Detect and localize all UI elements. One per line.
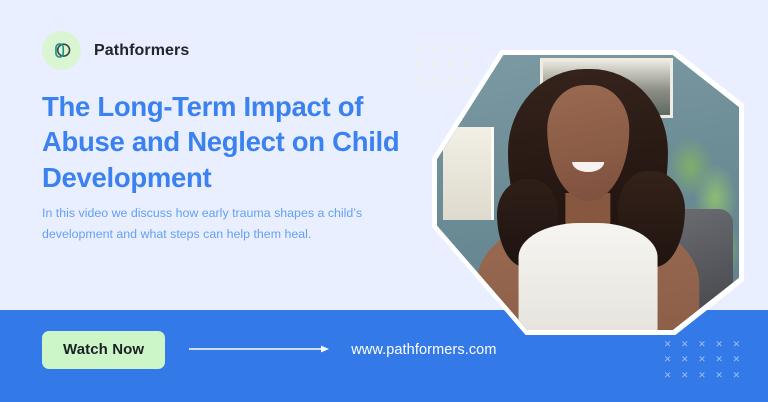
decorative-x-pattern-light: ✕ ✕ ✕ ✕ ✕ ✕ ✕ ✕ ✕ ✕ ✕ ✕ ✕ ✕ ✕ (659, 340, 745, 386)
x-mark-icon: ✕ (676, 355, 693, 370)
x-mark-icon: ✕ (676, 340, 693, 355)
promo-banner: ✕ ✕ ✕ ✕ ✕ ✕ ✕ ✕ ✕ ✕ ✕ ✕ Pathformers The … (0, 0, 768, 402)
x-mark-icon: ✕ (693, 340, 710, 355)
x-mark-icon: ✕ (693, 355, 710, 370)
x-mark-icon: ✕ (711, 340, 728, 355)
page-title: The Long-Term Impact of Abuse and Neglec… (42, 89, 442, 195)
watch-now-button[interactable]: Watch Now (42, 331, 165, 369)
x-mark-icon: ✕ (659, 355, 676, 370)
x-mark-icon: ✕ (413, 44, 429, 61)
website-url[interactable]: www.pathformers.com (351, 342, 496, 358)
x-mark-icon: ✕ (711, 355, 728, 370)
x-mark-icon: ✕ (728, 355, 745, 370)
cta-row: Watch Now www.pathformers.com (42, 331, 497, 369)
x-mark-icon: ✕ (693, 371, 710, 386)
x-mark-icon: ✕ (728, 371, 745, 386)
x-mark-icon: ✕ (659, 340, 676, 355)
brand-logo[interactable]: Pathformers (42, 31, 189, 70)
x-mark-icon: ✕ (711, 371, 728, 386)
description-text: In this video we discuss how early traum… (42, 203, 417, 246)
x-mark-icon: ✕ (728, 340, 745, 355)
avatar (437, 55, 739, 330)
portrait-container (437, 55, 739, 330)
x-mark-icon: ✕ (413, 61, 429, 78)
x-mark-icon: ✕ (659, 371, 676, 386)
brand-name: Pathformers (94, 42, 189, 60)
portrait-white-top (519, 223, 658, 330)
arrow-right-icon (189, 341, 331, 359)
portrait-wall-panel (443, 127, 494, 221)
pathformers-p-monogram-icon (42, 31, 81, 70)
x-mark-icon: ✕ (676, 371, 693, 386)
